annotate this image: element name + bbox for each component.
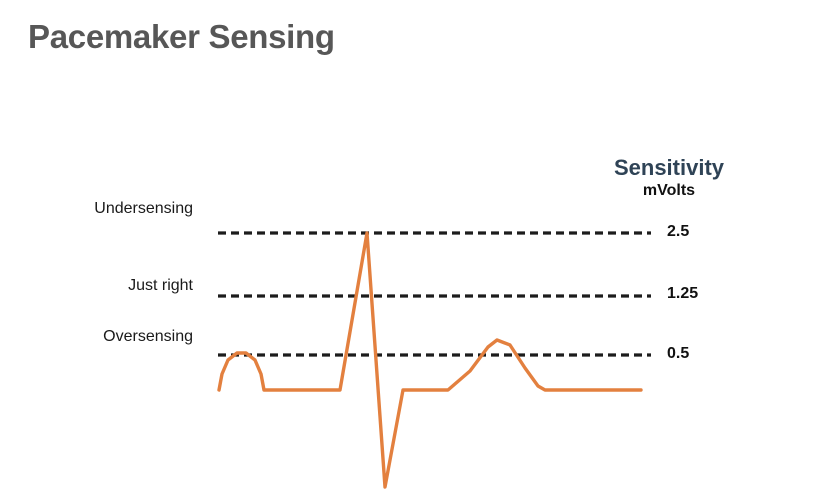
ecg-waveform-chart xyxy=(0,0,834,499)
mvolts-subheading: mVolts xyxy=(604,182,734,200)
slide-canvas: Pacemaker Sensing Sensitivity mVolts Und… xyxy=(0,0,834,499)
sensitivity-heading: Sensitivity xyxy=(604,155,734,181)
ecg-trace-line xyxy=(219,233,641,487)
threshold-value-0-5: 0.5 xyxy=(667,345,689,363)
threshold-value-2-5: 2.5 xyxy=(667,223,689,241)
threshold-line-group xyxy=(218,233,651,355)
zone-label-just-right: Just right xyxy=(128,277,193,295)
zone-label-oversensing: Oversensing xyxy=(103,328,193,346)
page-title: Pacemaker Sensing xyxy=(28,18,335,56)
zone-label-undersensing: Undersensing xyxy=(94,200,193,218)
threshold-value-1-25: 1.25 xyxy=(667,285,698,303)
